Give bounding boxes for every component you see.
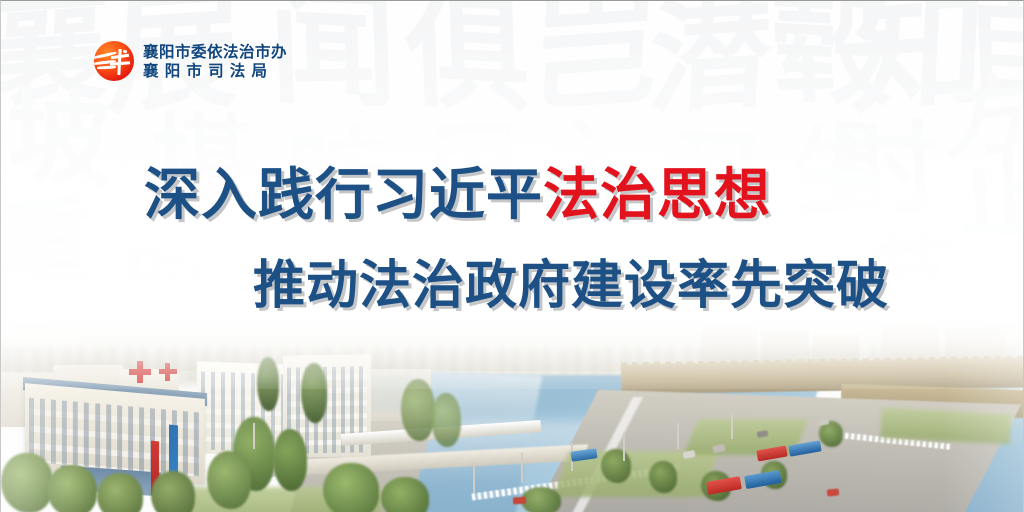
- org-name-line-2: 襄阳市司法局: [143, 62, 287, 80]
- promotional-banner: 襄 坡 重 展 堪 时 闻 味 俱 里 人 岂 入 潜 又 毂 生 知 时 节 …: [0, 0, 1024, 512]
- organization-brand: 襄阳市委依法治市办 襄阳市司法局: [94, 41, 287, 81]
- org-name-line-1: 襄阳市委依法治市办: [143, 43, 287, 61]
- headline-line-1: 深入践行习近平法治思想: [144, 164, 771, 228]
- xiangyang-judicial-emblem-icon: [94, 41, 134, 81]
- cityscape-photo: [1, 301, 1024, 512]
- red-cross-icon-2: [159, 363, 177, 381]
- red-cross-icon: [129, 361, 151, 383]
- headline-line-1-red: 法治思想: [543, 163, 771, 228]
- headline-line-1-blue: 深入践行习近平: [144, 163, 543, 228]
- headline-line-2: 推动法治政府建设率先突破: [253, 256, 889, 316]
